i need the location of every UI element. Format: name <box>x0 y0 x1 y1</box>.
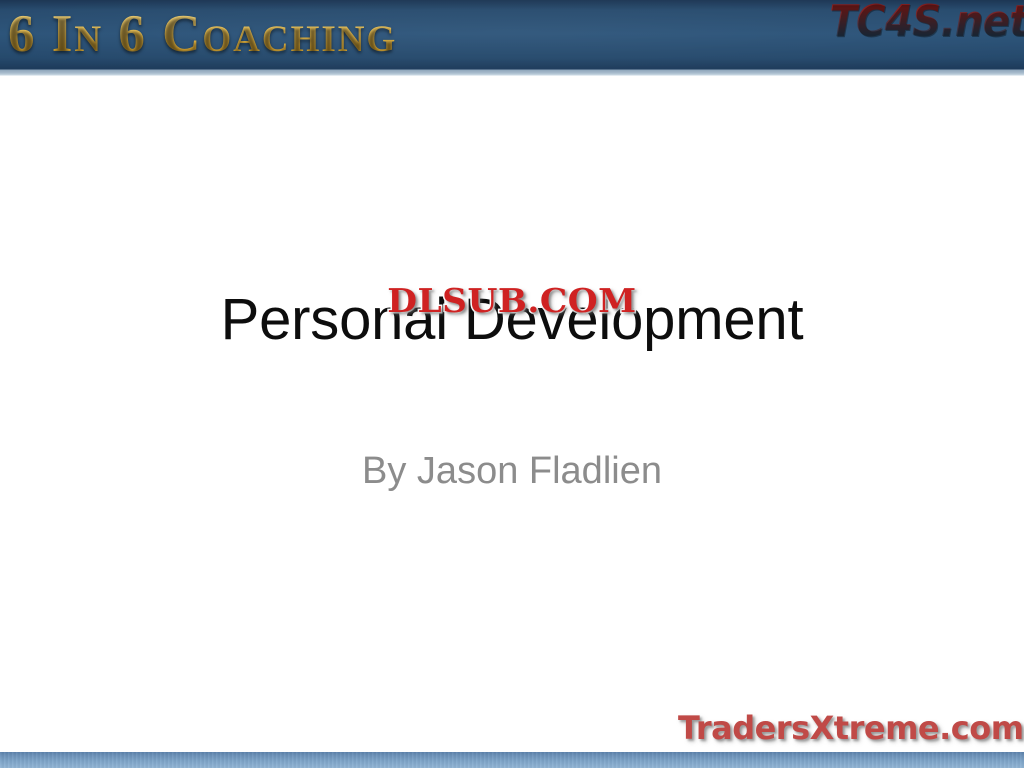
presentation-slide: 6 In 6 Coaching TC4S.net Personal Develo… <box>0 0 1024 768</box>
slide-content-area: Personal Development By Jason Fladlien <box>0 76 1024 768</box>
tc4s-site-logo: TC4S.net <box>830 0 1024 46</box>
slide-title: Personal Development <box>0 288 1024 352</box>
brand-title: 6 In 6 Coaching <box>8 6 397 62</box>
slide-footer-bar <box>0 752 1024 768</box>
slide-header-banner: 6 In 6 Coaching TC4S.net <box>0 0 1024 76</box>
slide-subtitle: By Jason Fladlien <box>0 448 1024 494</box>
